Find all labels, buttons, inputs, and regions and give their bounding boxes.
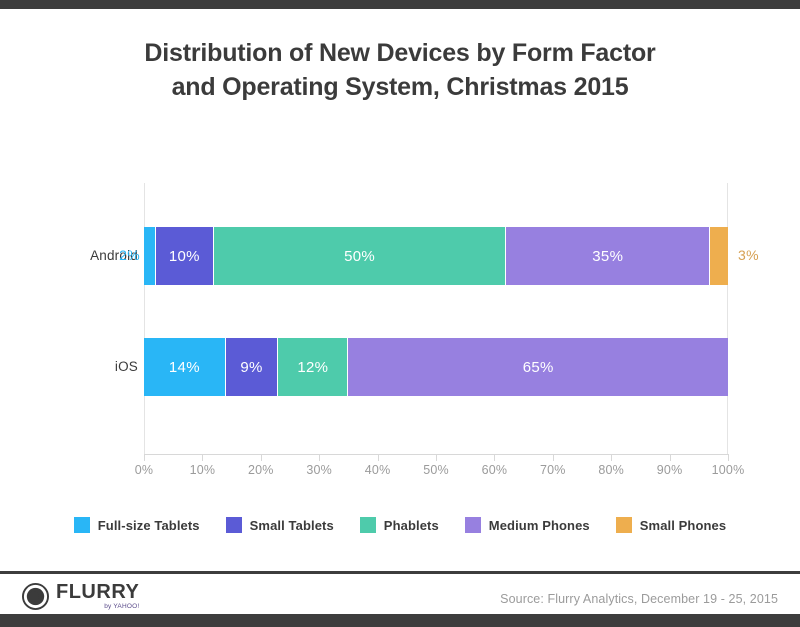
android-segment-3[interactable]: 35%	[506, 227, 710, 285]
x-tick-30	[319, 454, 320, 461]
android-segment-0[interactable]	[144, 227, 156, 285]
x-tick-label-70: 70%	[523, 463, 583, 477]
legend-swatch-icon-1	[226, 517, 242, 533]
bar-row-ios[interactable]: 14%9%12%65%	[144, 338, 728, 396]
legend-swatch-icon-4	[616, 517, 632, 533]
android-segment-3-label: 35%	[592, 248, 623, 265]
bottom-rail	[0, 614, 800, 627]
ios-segment-0-label: 14%	[169, 359, 200, 376]
x-tick-label-10: 10%	[172, 463, 232, 477]
x-tick-label-30: 30%	[289, 463, 349, 477]
legend-swatch-icon-3	[465, 517, 481, 533]
x-tick-label-60: 60%	[464, 463, 524, 477]
flurry-wordmark: FLURRY by YAHOO!	[56, 582, 139, 611]
legend-item-3[interactable]: Medium Phones	[465, 517, 590, 533]
ios-segment-3-label: 65%	[523, 359, 554, 376]
chart-legend: Full-size TabletsSmall TabletsPhabletsMe…	[0, 517, 800, 533]
x-tick-label-90: 90%	[640, 463, 700, 477]
source-attribution: Source: Flurry Analytics, December 19 - …	[500, 592, 778, 606]
ios-segment-2[interactable]: 12%	[278, 338, 348, 396]
page-title-line-2: and Operating System, Christmas 2015	[0, 70, 800, 104]
legend-label-3: Medium Phones	[489, 518, 590, 533]
chart-page: Distribution of New Devices by Form Fact…	[0, 0, 800, 627]
bar-row-android[interactable]: 10%50%35%	[144, 227, 728, 285]
x-tick-label-100: 100%	[698, 463, 758, 477]
x-tick-10	[202, 454, 203, 461]
legend-item-1[interactable]: Small Tablets	[226, 517, 334, 533]
x-tick-label-50: 50%	[406, 463, 466, 477]
x-tick-90	[670, 454, 671, 461]
page-title: Distribution of New Devices by Form Fact…	[0, 36, 800, 104]
android-outside-label-right: 3%	[738, 247, 759, 263]
legend-item-4[interactable]: Small Phones	[616, 517, 726, 533]
x-tick-label-80: 80%	[581, 463, 641, 477]
legend-item-2[interactable]: Phablets	[360, 517, 439, 533]
x-tick-80	[611, 454, 612, 461]
category-label-ios: iOS	[0, 359, 138, 374]
android-segment-4[interactable]	[710, 227, 728, 285]
footer-divider	[0, 571, 800, 574]
x-tick-label-0: 0%	[114, 463, 174, 477]
x-tick-70	[553, 454, 554, 461]
x-tick-0	[144, 454, 145, 461]
android-segment-2[interactable]: 50%	[214, 227, 506, 285]
legend-label-2: Phablets	[384, 518, 439, 533]
axis-line-zero	[144, 183, 145, 454]
legend-swatch-icon-0	[74, 517, 90, 533]
plot-area: 10%50%35% 14%9%12%65%	[144, 183, 728, 454]
android-outside-label-left: 2%	[92, 247, 140, 263]
x-tick-label-40: 40%	[348, 463, 408, 477]
legend-swatch-icon-2	[360, 517, 376, 533]
android-segment-1-label: 10%	[169, 248, 200, 265]
page-title-line-1: Distribution of New Devices by Form Fact…	[0, 36, 800, 70]
legend-label-1: Small Tablets	[250, 518, 334, 533]
android-segment-2-label: 50%	[344, 248, 375, 265]
top-rail	[0, 0, 800, 9]
ios-segment-1-label: 9%	[240, 359, 262, 376]
flurry-circle-icon	[22, 583, 49, 610]
axis-line-hundred	[727, 183, 728, 454]
legend-label-4: Small Phones	[640, 518, 726, 533]
legend-label-0: Full-size Tablets	[98, 518, 200, 533]
x-tick-100	[728, 454, 729, 461]
x-tick-60	[494, 454, 495, 461]
x-tick-50	[436, 454, 437, 461]
flurry-wordmark-text: FLURRY	[56, 582, 139, 602]
flurry-logo: FLURRY by YAHOO!	[22, 582, 139, 611]
ios-segment-0[interactable]: 14%	[144, 338, 226, 396]
x-tick-20	[261, 454, 262, 461]
android-segment-1[interactable]: 10%	[156, 227, 214, 285]
ios-segment-3[interactable]: 65%	[348, 338, 728, 396]
legend-item-0[interactable]: Full-size Tablets	[74, 517, 200, 533]
x-tick-40	[378, 454, 379, 461]
ios-segment-1[interactable]: 9%	[226, 338, 279, 396]
ios-segment-2-label: 12%	[297, 359, 328, 376]
flurry-yahoo-subtext: by YAHOO!	[104, 604, 139, 611]
x-tick-label-20: 20%	[231, 463, 291, 477]
